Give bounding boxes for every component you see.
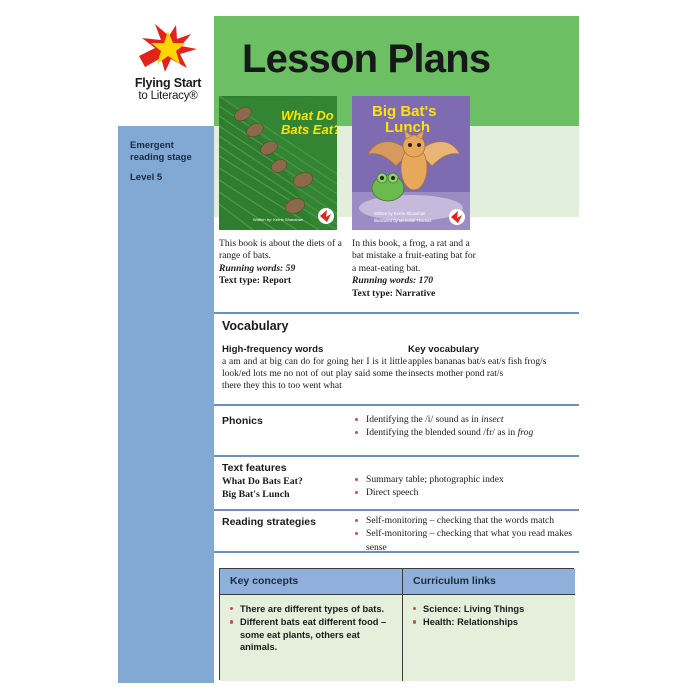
high-frequency-words-heading: High-frequency words	[222, 344, 323, 355]
book-1-running-words: 59	[286, 263, 296, 274]
high-frequency-words-list: a am and at big can do for going her I i…	[222, 356, 407, 393]
rule-reading-strategies-top	[214, 509, 579, 511]
brand-logo: Flying Start to Literacy®	[118, 22, 218, 107]
rule-text-features-top	[214, 455, 579, 457]
level-label: Level 5	[130, 172, 162, 183]
curriculum-links-item-1: Science: Living Things	[413, 603, 568, 615]
phonics-list: Identifying the /i/ sound as in insect I…	[355, 413, 580, 440]
svg-text:Written by: Kerrie Shanahan: Written by: Kerrie Shanahan	[253, 217, 303, 222]
book-1-description: This book is about the diets of a range …	[219, 238, 347, 263]
brand-name-line2: to Literacy®	[118, 90, 218, 103]
curriculum-links-body-cell: Science: Living Things Health: Relations…	[403, 595, 575, 681]
book-2-text-type: Narrative	[395, 288, 435, 299]
text-features-book-1-label: What Do Bats Eat?	[222, 475, 303, 488]
key-concepts-list: There are different types of bats. Diffe…	[230, 603, 395, 655]
book-1-running-words-label: Running words:	[219, 263, 283, 274]
book-2-description-block: In this book, a frog, a rat and a bat mi…	[352, 238, 480, 300]
svg-text:Written by Kerrie Shanahan: Written by Kerrie Shanahan	[374, 211, 426, 216]
vocabulary-title: Vocabulary	[222, 319, 288, 333]
text-features-book-2-label: Big Bat's Lunch	[222, 488, 290, 501]
book-2-description: In this book, a frog, a rat and a bat mi…	[352, 238, 480, 275]
phonics-item-2: Identifying the blended sound /fr/ as in…	[355, 426, 580, 439]
phonics-item-2-text: Identifying the blended sound /fr/ as in	[366, 427, 518, 438]
key-vocabulary-list: apples bananas bat/s eat/s fish frog/s i…	[408, 356, 558, 380]
text-features-list: Summary table; photographic index Direct…	[355, 473, 580, 500]
rule-reading-strategies-bottom	[214, 551, 579, 553]
page-title: Lesson Plans	[242, 37, 490, 82]
key-concepts-item-1: There are different types of bats.	[230, 603, 395, 615]
svg-text:What Do: What Do	[281, 108, 334, 123]
reading-strategies-title: Reading strategies	[222, 516, 316, 528]
text-features-item-2: Direct speech	[355, 486, 580, 499]
book-2-running-words-label: Running words:	[352, 275, 416, 286]
text-features-item-1: Summary table; photographic index	[355, 473, 580, 486]
rule-phonics-top	[214, 404, 579, 406]
book-1-text-type: Report	[262, 275, 291, 286]
reading-strategies-list: Self-monitoring – checking that the word…	[355, 514, 583, 554]
book-1-text-type-label: Text type:	[219, 275, 260, 286]
book-cover-what-do-bats-eat: What Do Bats Eat? Written by: Kerrie Sha…	[219, 96, 337, 230]
brand-name-line1: Flying Start	[118, 77, 218, 90]
book-2-text-type-label: Text type:	[352, 288, 393, 299]
reading-stage-label: Emergentreading stage	[130, 140, 208, 164]
text-features-title: Text features	[222, 462, 287, 474]
key-concepts-body-cell: There are different types of bats. Diffe…	[220, 595, 403, 681]
reading-strategies-item-1: Self-monitoring – checking that the word…	[355, 514, 583, 527]
curriculum-links-header-cell: Curriculum links	[403, 569, 575, 595]
curriculum-links-header-label: Curriculum links	[413, 575, 496, 587]
key-concepts-item-2: Different bats eat different food – some…	[230, 616, 395, 653]
phonics-item-1: Identifying the /i/ sound as in insect	[355, 413, 580, 426]
phonics-title: Phonics	[222, 415, 263, 427]
rule-vocabulary-top	[214, 312, 579, 314]
star-burst-logo-icon	[135, 22, 201, 74]
book-cover-big-bats-lunch: Big Bat's Lunch Written b	[352, 96, 470, 230]
phonics-item-1-text: Identifying the /i/ sound as in	[366, 414, 481, 425]
key-concepts-header-label: Key concepts	[230, 575, 298, 587]
book-2-running-words: 170	[419, 275, 433, 286]
svg-text:Illustrated by Meredith Thomas: Illustrated by Meredith Thomas	[374, 218, 431, 223]
phonics-item-2-emphasis: frog	[518, 427, 534, 438]
curriculum-links-item-2: Health: Relationships	[413, 616, 568, 628]
key-concepts-table: Key concepts Curriculum links There are …	[219, 568, 574, 680]
curriculum-links-list: Science: Living Things Health: Relations…	[413, 603, 568, 630]
lesson-plan-page: Flying Start to Literacy® Emergentreadin…	[0, 0, 700, 700]
key-vocabulary-heading: Key vocabulary	[408, 344, 479, 355]
key-concepts-header-cell: Key concepts	[220, 569, 403, 595]
left-sidebar: Emergentreading stage Level 5	[118, 126, 214, 683]
phonics-item-1-emphasis: insect	[481, 414, 503, 425]
svg-text:Big Bat's: Big Bat's	[372, 103, 436, 120]
book-1-description-block: This book is about the diets of a range …	[219, 238, 347, 288]
svg-text:Bats Eat?: Bats Eat?	[281, 122, 337, 137]
